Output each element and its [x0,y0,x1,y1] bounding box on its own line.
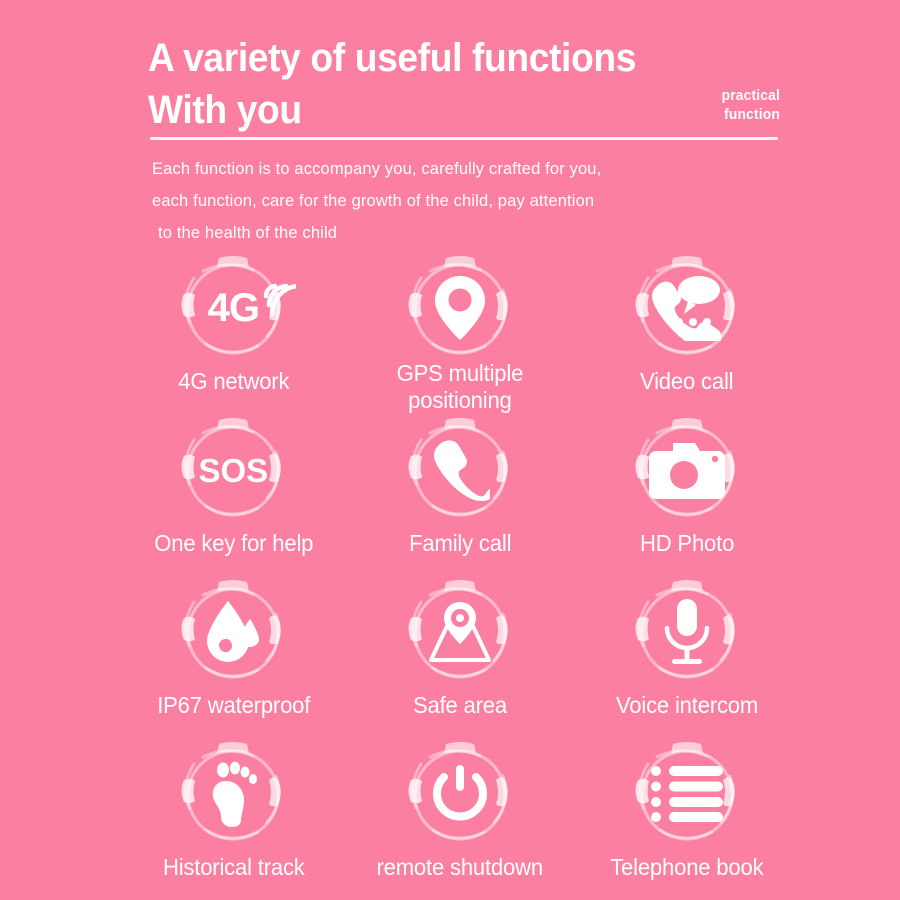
description-line-1: Each function is to accompany you, caref… [152,153,792,185]
watch-frame-icon [172,576,294,688]
feature-item-camera[interactable]: HD Photo [573,414,800,576]
feature-item-microphone[interactable]: Voice intercom [573,576,800,738]
title-line-1: A variety of useful functions [148,32,743,84]
power-button-icon [399,738,521,850]
watch-frame-icon [172,738,294,850]
glyph-label: SOS [198,454,268,487]
water-drop-icon [172,576,294,688]
badge-line-2: function [679,105,780,124]
watch-frame-icon [399,738,521,850]
description-line-2: each function, care for the growth of th… [152,185,792,217]
practical-function-badge: practical function [679,86,780,124]
watch-frame-icon [399,252,521,356]
page-description: Each function is to accompany you, caref… [152,153,792,249]
watch-frame-icon [626,252,748,364]
feature-label: 4G network [178,368,289,395]
list-lines-icon [626,738,748,850]
watch-frame-icon [399,576,521,688]
feature-label: Voice intercom [616,692,758,719]
feature-item-video-call[interactable]: Video call [573,252,800,414]
feature-label: Safe area [413,692,507,719]
feature-label: GPS multiple positioning [397,360,524,414]
feature-label: remote shutdown [377,854,544,881]
feature-item-footprint[interactable]: Historical track [120,738,347,900]
phone-handset-icon [399,414,521,526]
feature-item-water-drop[interactable]: IP67 waterproof [120,576,347,738]
watch-frame-icon [626,738,748,850]
feature-item-power-button[interactable]: remote shutdown [347,738,574,900]
safe-area-map-icon [399,576,521,688]
watch-frame-icon [399,414,521,526]
video-call-icon [626,252,748,364]
page-header: A variety of useful functions With you p… [0,0,900,250]
feature-item-safe-area-map[interactable]: Safe area [347,576,574,738]
map-pin-icon [399,252,521,364]
watch-frame-icon [626,576,748,688]
feature-item-list-lines[interactable]: Telephone book [573,738,800,900]
title-line-2: With you [148,84,743,136]
watch-frame-icon: 4G [172,252,294,364]
feature-item-4g-signal[interactable]: 4G 4G network [120,252,347,414]
feature-label: Telephone book [610,854,763,881]
badge-line-1: practical [679,86,780,105]
feature-item-map-pin[interactable]: GPS multiple positioning [347,252,574,414]
feature-item-phone-handset[interactable]: Family call [347,414,574,576]
camera-icon [626,414,748,526]
description-line-3: to the health of the child [152,217,792,249]
header-divider [150,137,778,140]
watch-frame-icon [626,414,748,526]
feature-grid: 4G 4G network GPS multiple positioning [120,252,800,900]
feature-label: One key for help [154,530,313,557]
feature-label: IP67 waterproof [157,692,310,719]
signal-waves-icon [234,272,296,324]
microphone-icon [626,576,748,688]
feature-label: Historical track [162,854,304,881]
footprint-icon [172,738,294,850]
4g-signal-icon: 4G [172,252,294,364]
watch-frame-icon: SOS [172,414,294,526]
feature-item-sos[interactable]: SOSOne key for help [120,414,347,576]
sos-icon: SOS [172,414,294,526]
feature-label: Video call [640,368,733,395]
feature-label: Family call [409,530,511,557]
feature-label: HD Photo [640,530,734,557]
